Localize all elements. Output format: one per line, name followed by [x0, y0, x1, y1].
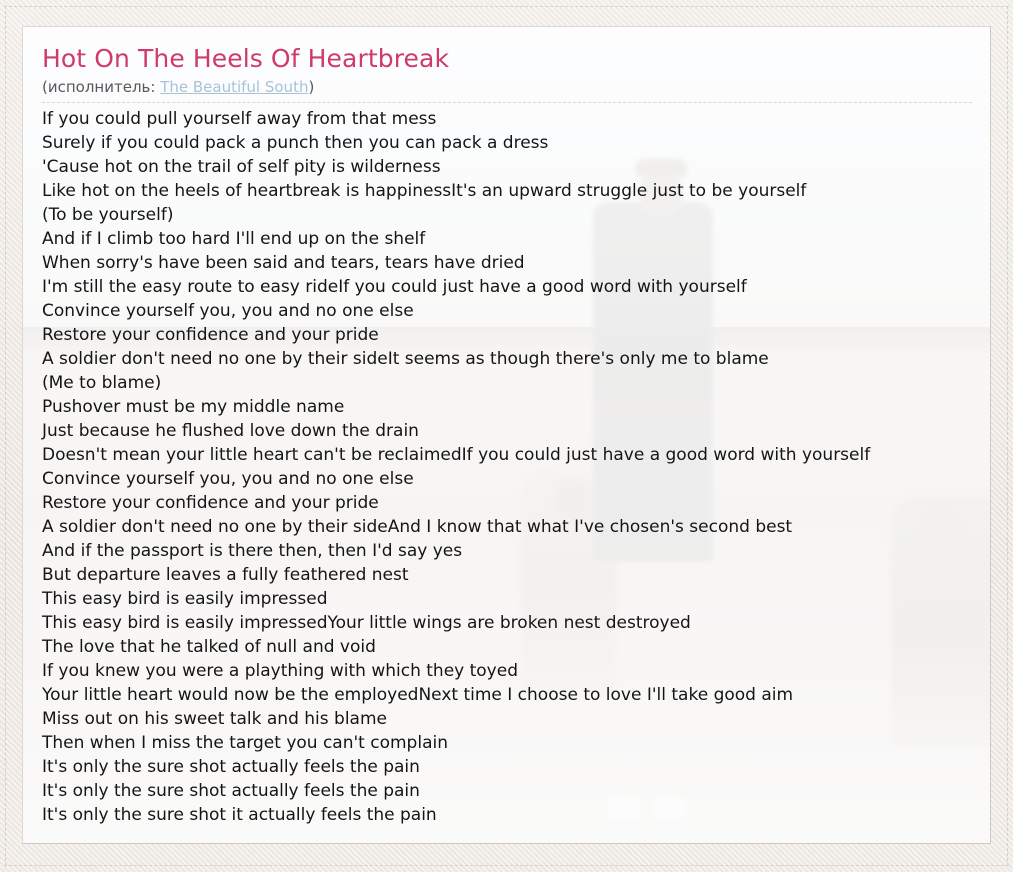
lyrics-line: It's only the sure shot actually feels t… [42, 779, 990, 803]
song-header: Hot On The Heels Of Heartbreak (исполнит… [42, 43, 972, 103]
lyrics-line: Convince yourself you, you and no one el… [42, 467, 990, 491]
artist-label: (исполнитель: [42, 78, 160, 96]
lyrics-line: Convince yourself you, you and no one el… [42, 299, 990, 323]
artist-line: (исполнитель: The Beautiful South) [42, 77, 972, 103]
lyrics-line: I'm still the easy route to easy rideIf … [42, 275, 990, 299]
lyrics-line: A soldier don't need no one by their sid… [42, 347, 990, 371]
lyrics-line: This easy bird is easily impressedYour l… [42, 611, 990, 635]
lyrics-line: And if I climb too hard I'll end up on t… [42, 227, 990, 251]
lyrics-line: Your little heart would now be the emplo… [42, 683, 990, 707]
artist-link[interactable]: The Beautiful South [160, 78, 308, 96]
lyrics-line: When sorry's have been said and tears, t… [42, 251, 990, 275]
lyrics-line: (Me to blame) [42, 371, 990, 395]
lyrics-line: Miss out on his sweet talk and his blame [42, 707, 990, 731]
lyrics-line: Surely if you could pack a punch then yo… [42, 131, 990, 155]
frame-border-bottom [4, 865, 1009, 866]
lyrics-line: Like hot on the heels of heartbreak is h… [42, 179, 990, 203]
lyrics-line: The love that he talked of null and void [42, 635, 990, 659]
lyrics-line: Then when I miss the target you can't co… [42, 731, 990, 755]
lyrics-line: 'Cause hot on the trail of self pity is … [42, 155, 990, 179]
frame-border-right [1007, 6, 1008, 866]
lyrics-line: Restore your confidence and your pride [42, 491, 990, 515]
lyrics-line: If you knew you were a plaything with wh… [42, 659, 990, 683]
lyrics-body: If you could pull yourself away from tha… [42, 107, 990, 827]
lyrics-line: (To be yourself) [42, 203, 990, 227]
artist-suffix: ) [308, 78, 314, 96]
lyrics-line: A soldier don't need no one by their sid… [42, 515, 990, 539]
lyrics-card: Hot On The Heels Of Heartbreak (исполнит… [22, 26, 991, 844]
lyrics-line: It's only the sure shot it actually feel… [42, 803, 990, 827]
page-frame: Hot On The Heels Of Heartbreak (исполнит… [0, 0, 1013, 872]
lyrics-line: Just because he flushed love down the dr… [42, 419, 990, 443]
frame-border-top [4, 6, 1009, 7]
lyrics-line: But departure leaves a fully feathered n… [42, 563, 990, 587]
lyrics-line: Pushover must be my middle name [42, 395, 990, 419]
frame-border-left [5, 6, 6, 866]
lyrics-line: If you could pull yourself away from tha… [42, 107, 990, 131]
lyrics-line: Doesn't mean your little heart can't be … [42, 443, 990, 467]
lyrics-line: It's only the sure shot actually feels t… [42, 755, 990, 779]
lyrics-line: Restore your confidence and your pride [42, 323, 990, 347]
lyrics-line: And if the passport is there then, then … [42, 539, 990, 563]
lyrics-line: This easy bird is easily impressed [42, 587, 990, 611]
page-title: Hot On The Heels Of Heartbreak [42, 43, 972, 75]
